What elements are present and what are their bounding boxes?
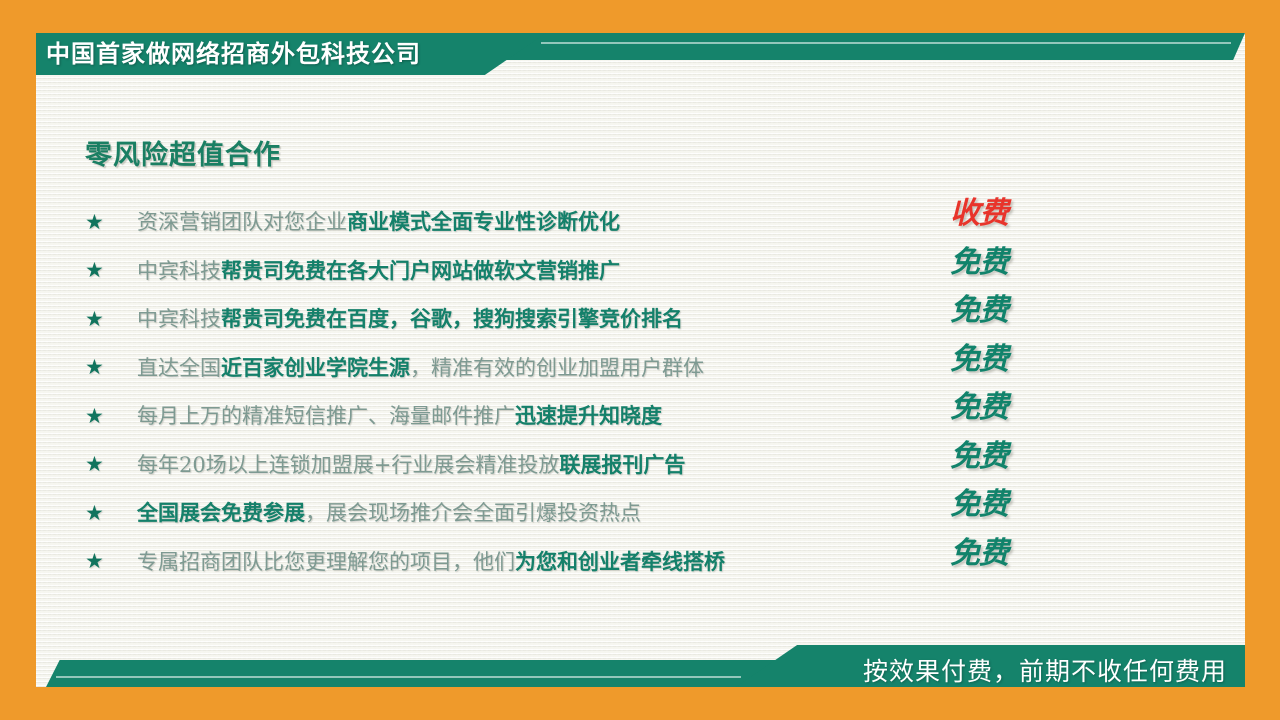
price-cell: 免费 xyxy=(950,336,1070,385)
star-bullet-icon: ★ xyxy=(85,406,137,427)
benefit-text-plain-lead: 资深营销团队对您企业 xyxy=(137,210,347,234)
benefit-text: 直达全国近百家创业学院生源，精准有效的创业加盟用户群体 xyxy=(137,356,704,380)
benefit-row: ★中宾科技帮贵司免费在各大门户网站做软文营销推广 xyxy=(85,247,1085,296)
benefit-text-plain-lead: 每年20场以上连锁加盟展+行业展会精准投放 xyxy=(137,453,559,477)
price-badge-free: 免费 xyxy=(950,393,1008,423)
price-column: 收费免费免费免费免费免费免费免费 xyxy=(950,190,1070,578)
price-cell: 免费 xyxy=(950,530,1070,579)
star-bullet-icon: ★ xyxy=(85,357,137,378)
star-bullet-icon: ★ xyxy=(85,212,137,233)
benefits-list: ★资深营销团队对您企业商业模式全面专业性诊断优化★中宾科技帮贵司免费在各大门户网… xyxy=(85,198,1085,586)
benefit-text-plain-lead: 每月上万的精准短信推广、海量邮件推广 xyxy=(137,404,515,428)
star-bullet-icon: ★ xyxy=(85,503,137,524)
benefit-text-plain-lead: 直达全国 xyxy=(137,356,221,380)
star-bullet-icon: ★ xyxy=(85,309,137,330)
benefit-row: ★中宾科技帮贵司免费在百度，谷歌，搜狗搜索引擎竞价排名 xyxy=(85,295,1085,344)
price-badge-free: 免费 xyxy=(950,345,1008,375)
benefit-text: 资深营销团队对您企业商业模式全面专业性诊断优化 xyxy=(137,210,620,234)
benefit-text: 专属招商团队比您更理解您的项目，他们为您和创业者牵线搭桥 xyxy=(137,550,725,574)
benefit-text: 中宾科技帮贵司免费在各大门户网站做软文营销推广 xyxy=(137,259,620,283)
price-badge-free: 免费 xyxy=(950,539,1008,569)
price-badge-free: 免费 xyxy=(950,248,1008,278)
star-bullet-icon: ★ xyxy=(85,260,137,281)
benefit-row: ★全国展会免费参展，展会现场推介会全面引爆投资热点 xyxy=(85,489,1085,538)
price-cell: 免费 xyxy=(950,287,1070,336)
star-bullet-icon: ★ xyxy=(85,551,137,572)
price-badge-free: 免费 xyxy=(950,442,1008,472)
benefit-row: ★资深营销团队对您企业商业模式全面专业性诊断优化 xyxy=(85,198,1085,247)
header-right-bar xyxy=(504,33,1245,60)
benefit-text: 每年20场以上连锁加盟展+行业展会精准投放联展报刊广告 xyxy=(137,453,685,477)
footer-slogan: 按效果付费，前期不收任何费用 xyxy=(863,653,1227,691)
slide-root: 中国首家做网络招商外包科技公司 零风险超值合作 ★资深营销团队对您企业商业模式全… xyxy=(0,0,1280,720)
footer-band: 按效果付费，前期不收任何费用 xyxy=(36,639,1245,687)
benefit-text: 中宾科技帮贵司免费在百度，谷歌，搜狗搜索引擎竞价排名 xyxy=(137,307,683,331)
price-cell: 收费 xyxy=(950,190,1070,239)
benefit-text: 全国展会免费参展，展会现场推介会全面引爆投资热点 xyxy=(137,501,641,525)
footer-right-block: 按效果付费，前期不收任何费用 xyxy=(736,645,1245,687)
benefit-text-emphasis: 为您和创业者牵线搭桥 xyxy=(515,549,725,574)
price-cell: 免费 xyxy=(950,239,1070,288)
price-cell: 免费 xyxy=(950,481,1070,530)
header-hairline-divider xyxy=(541,42,1231,44)
price-badge-paid: 收费 xyxy=(950,199,1008,229)
footer-left-bar xyxy=(46,660,806,687)
benefit-text-emphasis: 帮贵司免费在百度，谷歌，搜狗搜索引擎竞价排名 xyxy=(221,306,683,331)
benefit-row: ★直达全国近百家创业学院生源，精准有效的创业加盟用户群体 xyxy=(85,344,1085,393)
header-band: 中国首家做网络招商外包科技公司 xyxy=(36,33,1245,81)
price-cell: 免费 xyxy=(950,433,1070,482)
benefit-text-emphasis: 联展报刊广告 xyxy=(559,452,685,477)
page-title: 零风险超值合作 xyxy=(85,133,281,172)
benefit-text-plain-lead: 中宾科技 xyxy=(137,259,221,283)
company-tagline: 中国首家做网络招商外包科技公司 xyxy=(46,34,516,74)
price-badge-free: 免费 xyxy=(950,490,1008,520)
benefit-text: 每月上万的精准短信推广、海量邮件推广迅速提升知晓度 xyxy=(137,404,662,428)
benefit-text-emphasis: 近百家创业学院生源 xyxy=(221,355,410,380)
benefit-row: ★专属招商团队比您更理解您的项目，他们为您和创业者牵线搭桥 xyxy=(85,538,1085,587)
benefit-row: ★每年20场以上连锁加盟展+行业展会精准投放联展报刊广告 xyxy=(85,441,1085,490)
benefit-text-plain-lead: 专属招商团队比您更理解您的项目，他们 xyxy=(137,550,515,574)
price-badge-free: 免费 xyxy=(950,296,1008,326)
footer-hairline-divider xyxy=(56,676,741,678)
benefit-text-emphasis: 商业模式全面专业性诊断优化 xyxy=(347,209,620,234)
benefit-text-plain-tail: ，精准有效的创业加盟用户群体 xyxy=(410,356,704,380)
price-cell: 免费 xyxy=(950,384,1070,433)
benefit-text-plain-tail: ，展会现场推介会全面引爆投资热点 xyxy=(305,501,641,525)
benefit-text-plain-lead: 中宾科技 xyxy=(137,307,221,331)
benefit-text-emphasis: 迅速提升知晓度 xyxy=(515,403,662,428)
benefit-row: ★每月上万的精准短信推广、海量邮件推广迅速提升知晓度 xyxy=(85,392,1085,441)
benefit-text-emphasis: 全国展会免费参展 xyxy=(137,500,305,525)
benefit-text-emphasis: 帮贵司免费在各大门户网站做软文营销推广 xyxy=(221,258,620,283)
star-bullet-icon: ★ xyxy=(85,454,137,475)
